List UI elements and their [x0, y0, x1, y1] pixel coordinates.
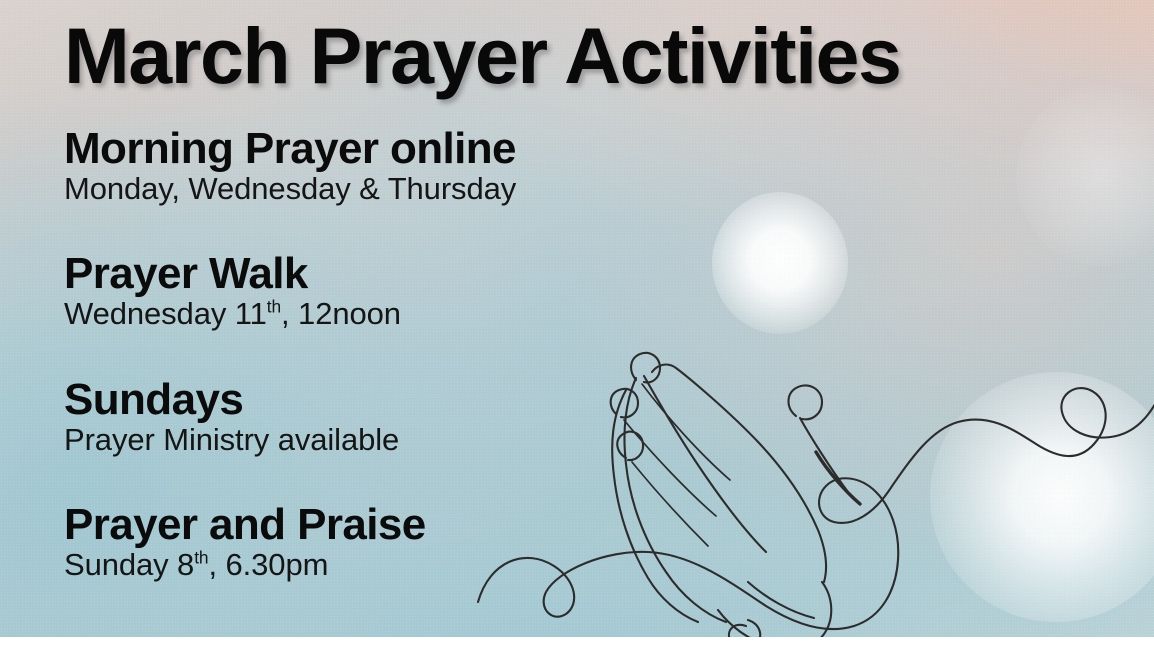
- bottom-white-strip: [0, 637, 1154, 649]
- glow-blob-upper: [712, 192, 848, 334]
- activity-title: Prayer Walk: [64, 251, 401, 297]
- poster-canvas: March Prayer Activities Morning Prayer o…: [0, 0, 1154, 637]
- praying-hands-icon: [430, 230, 1154, 637]
- activity-title: Prayer and Praise: [64, 502, 426, 548]
- activity-detail: Prayer Ministry available: [64, 423, 399, 458]
- activity-detail-prefix: Sunday 8: [64, 547, 194, 582]
- activity-detail-suffix: , 6.30pm: [208, 547, 328, 582]
- activity-detail-ordinal: th: [194, 548, 208, 568]
- glow-blob-lower: [930, 372, 1154, 622]
- activity-entry-morning-prayer: Morning Prayer online Monday, Wednesday …: [64, 126, 516, 207]
- activity-detail-suffix: , 12noon: [281, 296, 401, 331]
- activity-detail: Sunday 8th, 6.30pm: [64, 548, 426, 583]
- activity-title: Morning Prayer online: [64, 126, 516, 172]
- activity-entry-sundays: Sundays Prayer Ministry available: [64, 377, 399, 458]
- activity-detail-ordinal: th: [267, 297, 281, 317]
- activity-detail-prefix: Monday, Wednesday & Thursday: [64, 171, 516, 206]
- page-title: March Prayer Activities: [64, 16, 900, 97]
- activity-detail-prefix: Prayer Ministry available: [64, 422, 399, 457]
- activity-title: Sundays: [64, 377, 399, 423]
- activity-entry-prayer-walk: Prayer Walk Wednesday 11th, 12noon: [64, 251, 401, 332]
- activity-detail-prefix: Wednesday 11: [64, 296, 267, 331]
- activity-detail: Monday, Wednesday & Thursday: [64, 172, 516, 207]
- activity-entry-prayer-and-praise: Prayer and Praise Sunday 8th, 6.30pm: [64, 502, 426, 583]
- glow-blob-top-right: [1016, 86, 1154, 266]
- activity-detail: Wednesday 11th, 12noon: [64, 297, 401, 332]
